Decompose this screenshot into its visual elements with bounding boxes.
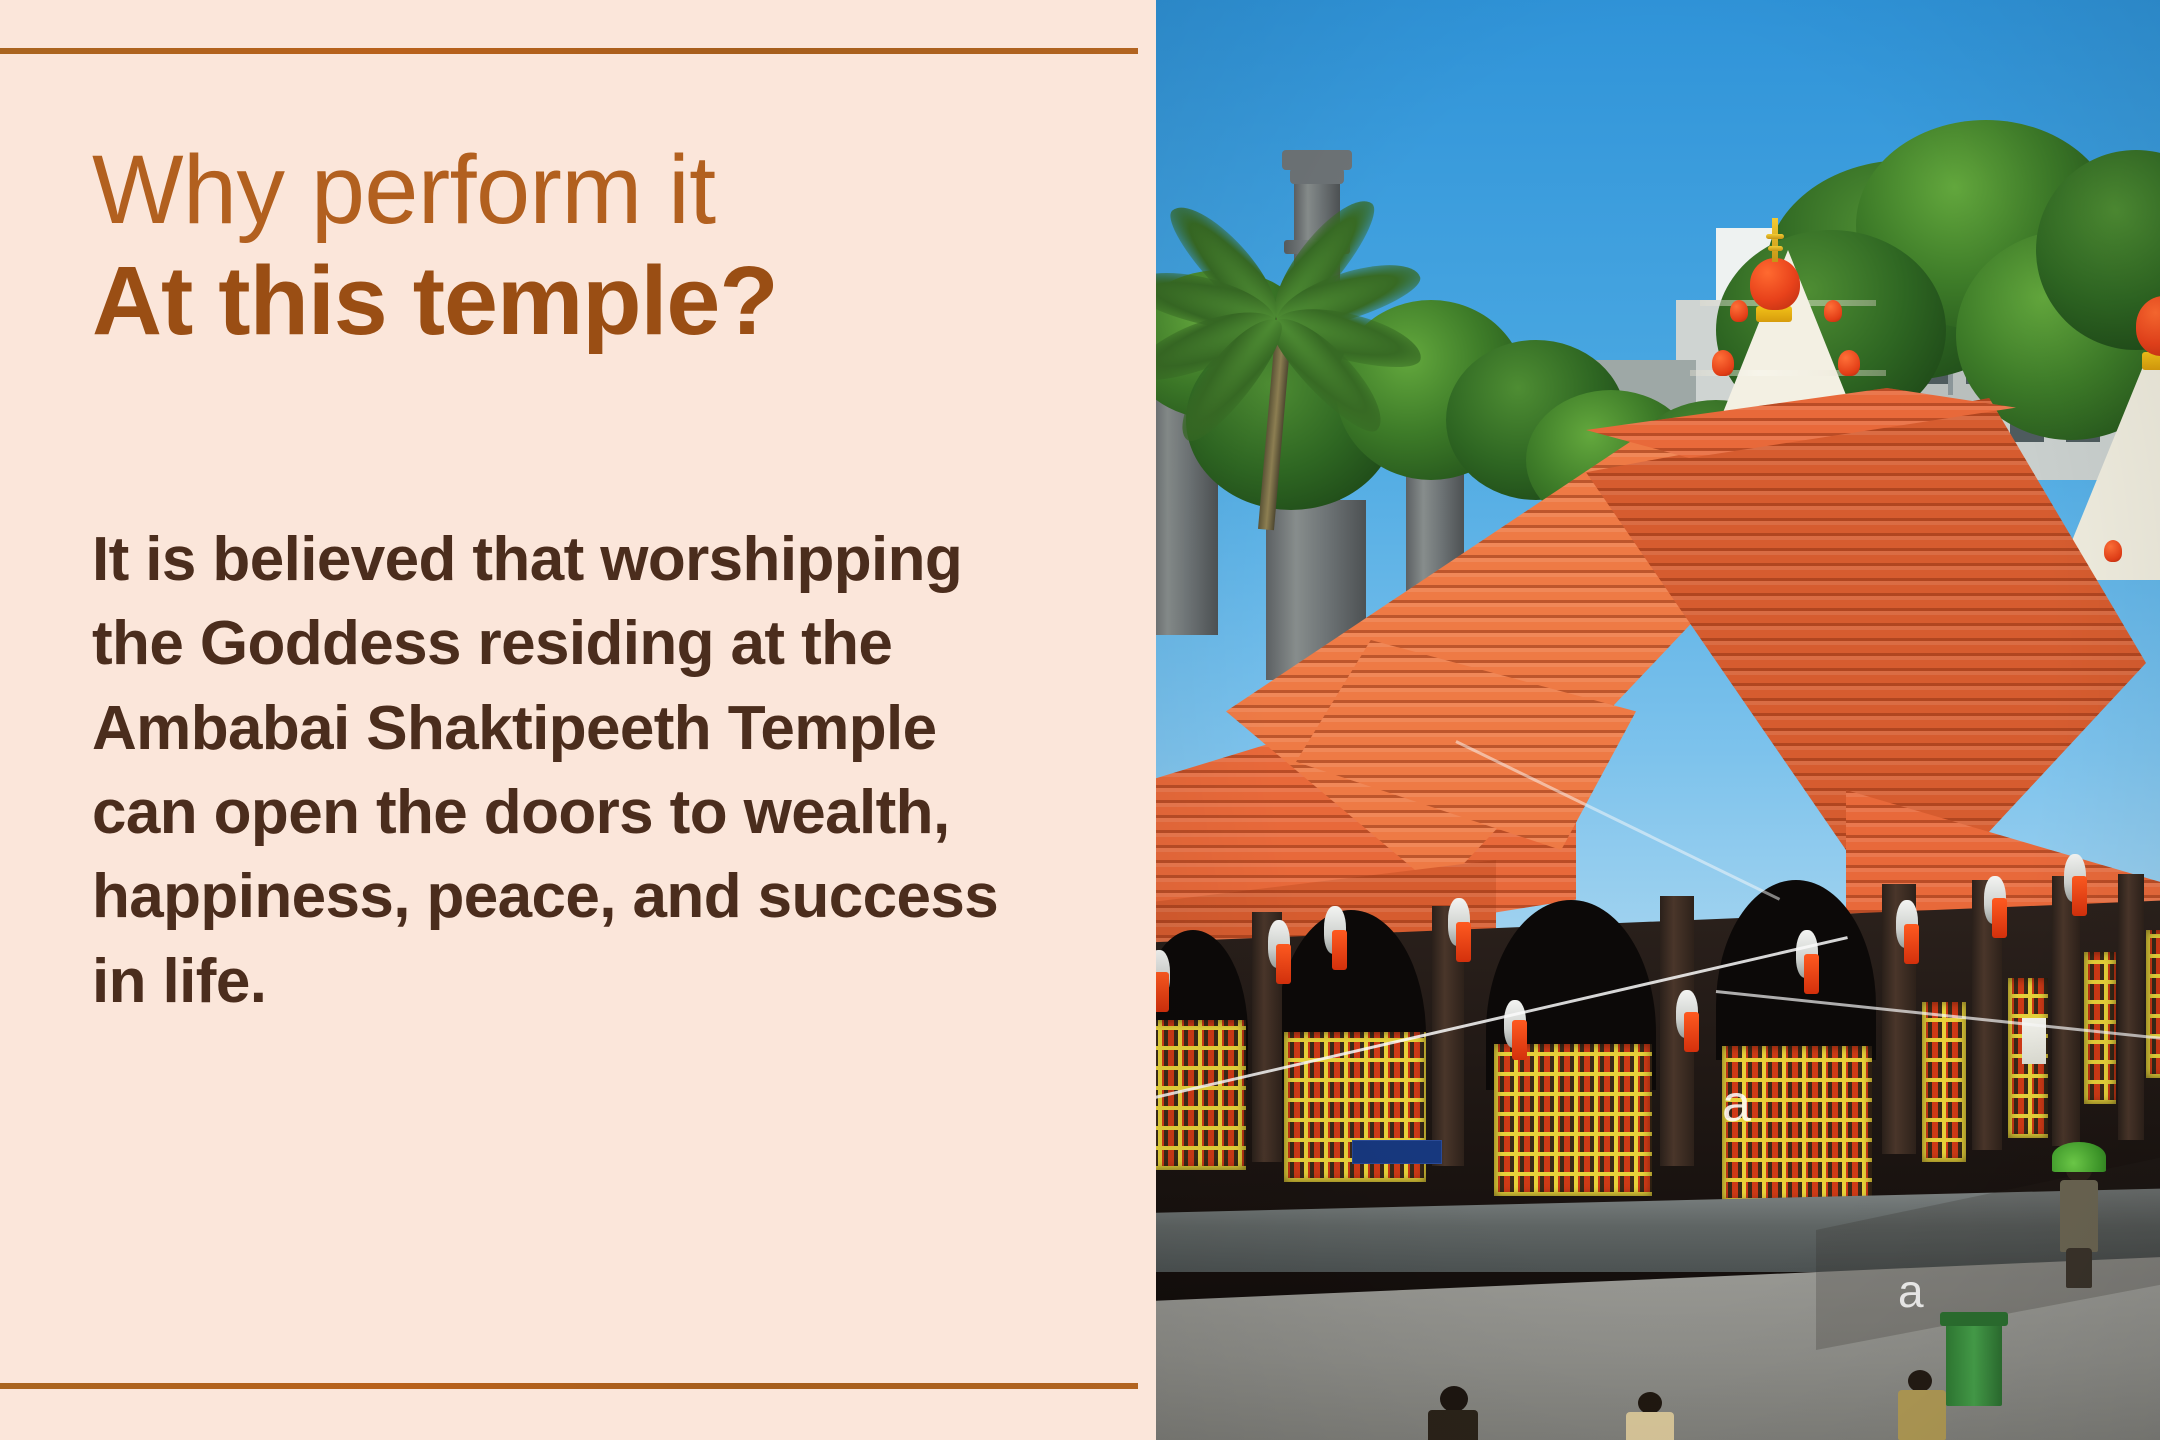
urn-cloth: [1804, 954, 1819, 994]
person-walking: [2056, 1158, 2102, 1288]
person-body: [1428, 1410, 1478, 1440]
shikhara-dome: [1750, 258, 1800, 310]
person-body: [1898, 1390, 1946, 1440]
lattice-grille: [1922, 1002, 1966, 1162]
person-body: [1626, 1412, 1674, 1440]
marathi-signboard: [1352, 1140, 1442, 1164]
watermark-letter: a: [1898, 1268, 1924, 1314]
person-foreground: [1626, 1392, 1676, 1440]
waste-bin-lid: [1940, 1312, 2008, 1326]
pillar: [2118, 874, 2144, 1140]
temple-photo: a a: [1156, 0, 2160, 1440]
stone-tower-cap: [1290, 168, 1344, 184]
shikhara-finial-disc: [1768, 246, 1783, 251]
person-body: [2060, 1180, 2098, 1252]
lattice-grille: [2084, 952, 2116, 1104]
body-paragraph: It is believed that worshipping the Godd…: [92, 518, 1052, 1024]
person-head: [1638, 1392, 1662, 1414]
person-seated: [1896, 1370, 1950, 1440]
headline-block: Why perform it At this temple?: [92, 138, 1092, 355]
person-head: [1440, 1386, 1468, 1412]
urn-cloth: [1992, 898, 2007, 938]
headline-line-1: Why perform it: [92, 138, 1092, 243]
urn-cloth: [1512, 1020, 1527, 1060]
headline-line-2: At this temple?: [92, 247, 1092, 356]
urn-cloth: [2072, 876, 2087, 916]
pillar: [2052, 876, 2080, 1146]
person-legs: [2066, 1248, 2092, 1288]
watermark-letter: a: [1722, 1078, 1751, 1130]
shikhara-kalash: [1824, 300, 1842, 322]
urn-cloth: [1456, 922, 1471, 962]
shikhara-finial-disc: [1766, 234, 1784, 239]
divider-bottom: [0, 1383, 1138, 1389]
urn-cloth: [1276, 944, 1291, 984]
urn-cloth: [1156, 972, 1169, 1012]
shikhara-kalash: [1712, 350, 1734, 376]
slide-root: Why perform it At this temple? It is bel…: [0, 0, 2160, 1440]
shikhara-kalash: [1730, 300, 1748, 322]
shikhara-kalash: [1838, 350, 1860, 376]
stone-tower-cap: [1282, 150, 1352, 170]
urn-cloth: [1332, 930, 1347, 970]
lattice-grille: [2146, 930, 2160, 1078]
urn-cloth: [1904, 924, 1919, 964]
shikhara-finial: [1772, 218, 1778, 262]
person-head: [1908, 1370, 1932, 1392]
person-foreground: [1426, 1386, 1480, 1440]
divider-top: [0, 48, 1138, 54]
waste-bin: [1946, 1320, 2002, 1406]
urn-cloth: [1684, 1012, 1699, 1052]
text-panel: Why perform it At this temple? It is bel…: [0, 0, 1156, 1440]
green-umbrella: [2052, 1142, 2106, 1172]
shikhara-secondary-kalash: [2104, 540, 2122, 562]
lattice-grille: [1494, 1044, 1652, 1196]
